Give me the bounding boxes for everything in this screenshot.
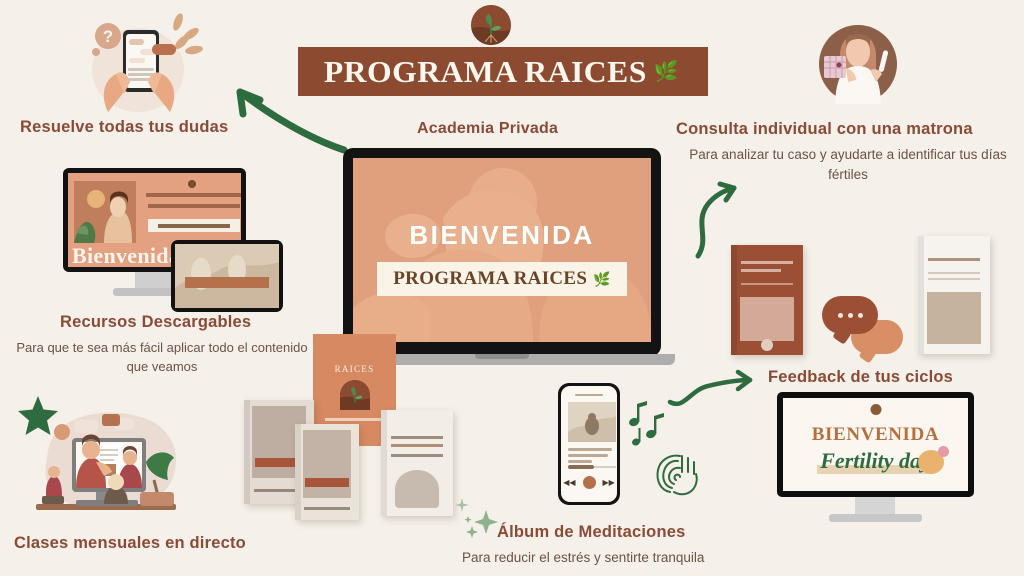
poster-title: RAICES [313, 364, 396, 374]
label-consulta-matrona: Consulta individual con una matrona [676, 120, 973, 139]
book-title-line-2 [741, 269, 781, 272]
book-spine [295, 424, 301, 520]
imac-program-chip [148, 219, 240, 232]
book-cover-photo [740, 297, 795, 341]
book-cover-photo [927, 292, 982, 344]
laptop-program-chip: PROGRAMA RAICES 🌿 [377, 262, 627, 296]
play-icon[interactable] [583, 476, 596, 489]
book-camino-positivo [918, 236, 990, 354]
book-cover-photo [303, 430, 352, 498]
svg-text:?: ? [103, 27, 113, 46]
phone-meditation-player: ◀◀ ▶▶ [558, 383, 620, 505]
label-academia-privada: Academia Privada [417, 120, 558, 138]
laptop-frame: BIENVENIDA PROGRAMA RAICES 🌿 [343, 148, 661, 356]
track-title-line-3 [568, 460, 592, 463]
leaf-icon: 🌿 [593, 271, 610, 288]
desc-album-meditaciones: Para reducir el estrés y sentirte tranqu… [462, 548, 812, 567]
tablet-screen [175, 244, 279, 308]
book-title-line-3 [391, 454, 443, 457]
imac-artwork [74, 181, 136, 243]
label-album-meditaciones: Álbum de Meditaciones [497, 523, 685, 542]
imac-stand-neck [135, 272, 173, 289]
book-title-band [305, 478, 349, 487]
label-clases-mensuales: Clases mensuales en directo [14, 534, 246, 553]
book-subtitle-line [741, 283, 793, 285]
laptop-welcome-title: BIENVENIDA [353, 220, 651, 251]
music-note-icon [627, 400, 671, 446]
label-feedback-ciclos: Feedback de tus ciclos [768, 368, 953, 387]
imac-headline-line-1 [146, 193, 241, 197]
monitor-brand-text: Fertility day [817, 448, 934, 474]
progress-bar[interactable] [568, 466, 616, 468]
monitor-feedback-ciclos: BIENVENIDA Fertility day [777, 392, 974, 532]
book-title-line-1 [928, 258, 980, 261]
poster-subtitle-line [325, 418, 384, 421]
curved-arrow-up-left-icon [210, 78, 350, 154]
meditation-cover-art [568, 402, 616, 442]
track-title-line-1 [568, 448, 612, 451]
monitor-stand-foot [829, 514, 922, 522]
book-seal-icon [761, 339, 773, 351]
book-cover-photo [395, 470, 438, 508]
tablet-cta-bar [185, 277, 268, 288]
book-subtitle-line-2 [928, 278, 980, 280]
book-footer-line [304, 507, 350, 510]
skip-previous-icon[interactable]: ◀◀ [563, 478, 575, 487]
roots-sprout-logo-icon [471, 5, 511, 45]
laptop-trackpad-notch [475, 354, 529, 359]
laptop-screen: BIENVENIDA PROGRAMA RAICES 🌿 [353, 158, 651, 342]
book-left-2 [295, 424, 359, 520]
infographic-canvas: PROGRAMA RAICES 🌿 Resuelve todas tus dud… [0, 0, 1024, 576]
book-title-line-1 [741, 261, 793, 264]
phone-screen: ◀◀ ▶▶ [561, 386, 617, 502]
monitor-welcome-text: BIENVENIDA [783, 424, 968, 446]
book-left-3 [381, 410, 453, 516]
sparkle-icon [464, 508, 504, 542]
sparkle-icon [455, 498, 469, 512]
laptop-academia-privada: BIENVENIDA PROGRAMA RAICES 🌿 [343, 148, 661, 358]
book-title-line-1 [391, 436, 443, 439]
monitor-logo-dot-icon [870, 404, 881, 415]
book-title-line-2 [391, 444, 443, 447]
imac-headline-line-2 [148, 204, 240, 208]
label-resuelve-dudas: Resuelve todas tus dudas [20, 118, 228, 137]
label-recursos-descargables: Recursos Descargables [60, 313, 251, 332]
tablet-recursos [171, 240, 283, 312]
tablet-frame [171, 240, 283, 312]
monitor-screen: BIENVENIDA Fertility day [783, 398, 968, 491]
monitor-stand-neck [855, 497, 895, 515]
program-banner: PROGRAMA RAICES 🌿 [296, 45, 710, 98]
book-spine [381, 410, 387, 516]
phone-frame: ◀◀ ▶▶ [558, 383, 620, 505]
book-subtitle-line-1 [928, 272, 980, 274]
hands-holding-phone-illustration: ? [78, 8, 202, 116]
star-icon [16, 394, 60, 438]
ovum-icon [918, 450, 944, 474]
hand-spiral-icon [652, 450, 700, 498]
desc-consulta-matrona: Para analizar tu caso y ayudarte a ident… [672, 145, 1024, 185]
book-spine [244, 400, 250, 504]
laptop-program-text: PROGRAMA RAICES [393, 268, 587, 290]
imac-logo-dot-icon [188, 180, 196, 188]
book-spine [918, 236, 924, 354]
leaf-icon: 🌿 [654, 62, 679, 82]
skip-next-icon[interactable]: ▶▶ [603, 478, 615, 487]
player-controls[interactable]: ◀◀ ▶▶ [561, 476, 617, 489]
book-spine [731, 245, 737, 355]
typing-dots-icon [822, 296, 878, 334]
desc-recursos-descargables: Para que te sea más fácil aplicar todo e… [12, 338, 312, 376]
book-ciclo-menstrual [731, 245, 803, 355]
monitor-frame: BIENVENIDA Fertility day [777, 392, 974, 497]
curved-arrow-right-icon [668, 358, 774, 408]
track-title-line-2 [568, 454, 608, 457]
chat-bubble-primary-icon [822, 296, 878, 334]
woman-with-calendar-illustration [806, 12, 910, 116]
imac-welcome-text: Bienvenida [72, 243, 180, 267]
banner-title: PROGRAMA RAICES [324, 54, 647, 90]
phone-header-line [575, 394, 603, 396]
roots-sprout-logo-icon [340, 380, 370, 410]
